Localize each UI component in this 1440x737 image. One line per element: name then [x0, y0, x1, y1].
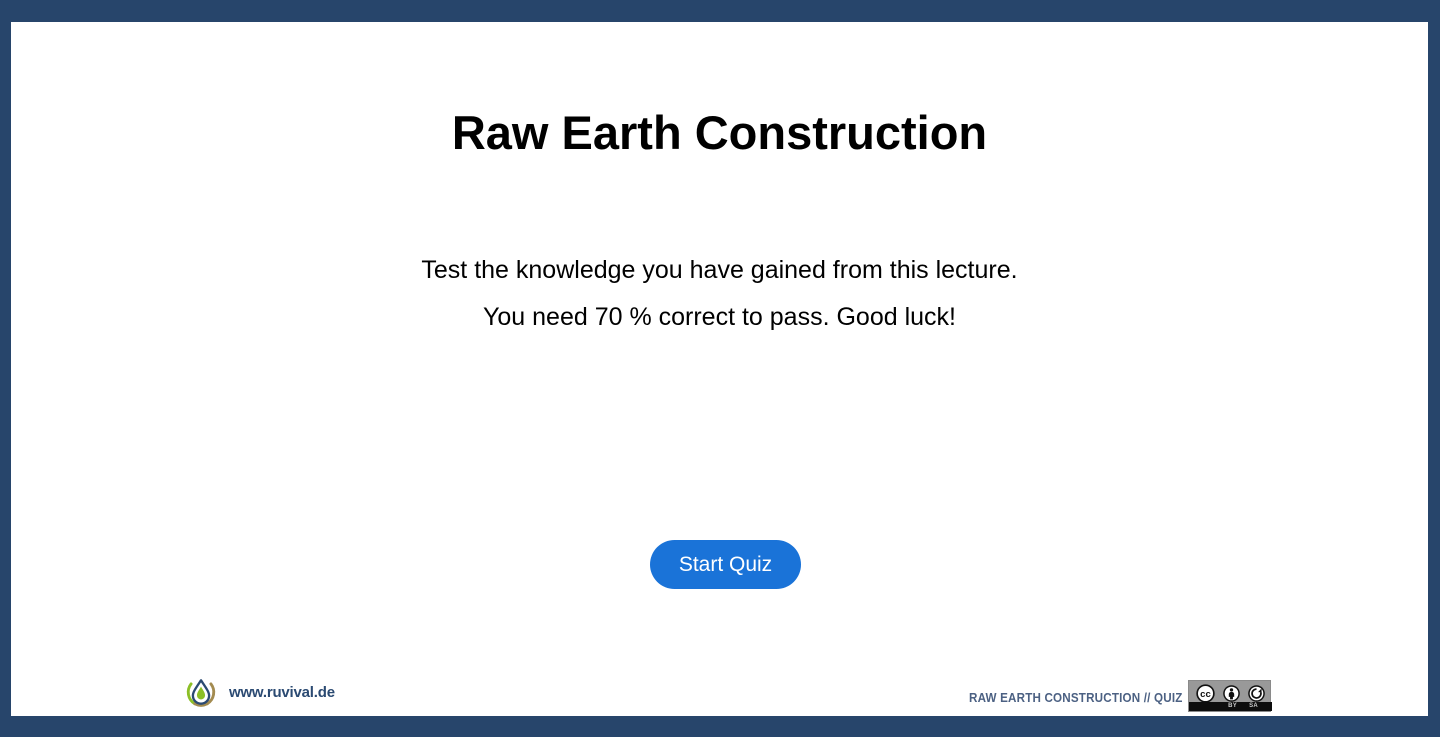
cc-by-person-icon [1222, 684, 1241, 703]
cc-by-label: BY [1228, 702, 1237, 711]
svg-text:cc: cc [1200, 689, 1211, 700]
cc-sa-arrow-icon [1247, 684, 1266, 703]
quiz-intro-slide: Raw Earth Construction Test the knowledg… [11, 22, 1428, 716]
cc-sa-label: SA [1249, 702, 1258, 711]
intro-line-2: You need 70 % correct to pass. Good luck… [11, 294, 1428, 341]
ruvival-droplet-logo-icon [183, 674, 219, 710]
intro-line-1: Test the knowledge you have gained from … [11, 247, 1428, 294]
cc-license-labels: BY SA [1189, 702, 1272, 711]
ruvival-branding[interactable]: www.ruvival.de [183, 674, 335, 710]
start-quiz-button[interactable]: Start Quiz [650, 540, 801, 589]
page-title: Raw Earth Construction [11, 107, 1428, 159]
lecture-breadcrumb: RAW EARTH CONSTRUCTION // QUIZ [969, 691, 1183, 705]
cc-license-badge[interactable]: cc BY SA [1188, 680, 1271, 712]
intro-text-block: Test the knowledge you have gained from … [11, 247, 1428, 341]
ruvival-website-label[interactable]: www.ruvival.de [229, 684, 335, 701]
creative-commons-icon: cc [1195, 683, 1216, 704]
presentation-frame: Raw Earth Construction Test the knowledg… [0, 0, 1440, 737]
